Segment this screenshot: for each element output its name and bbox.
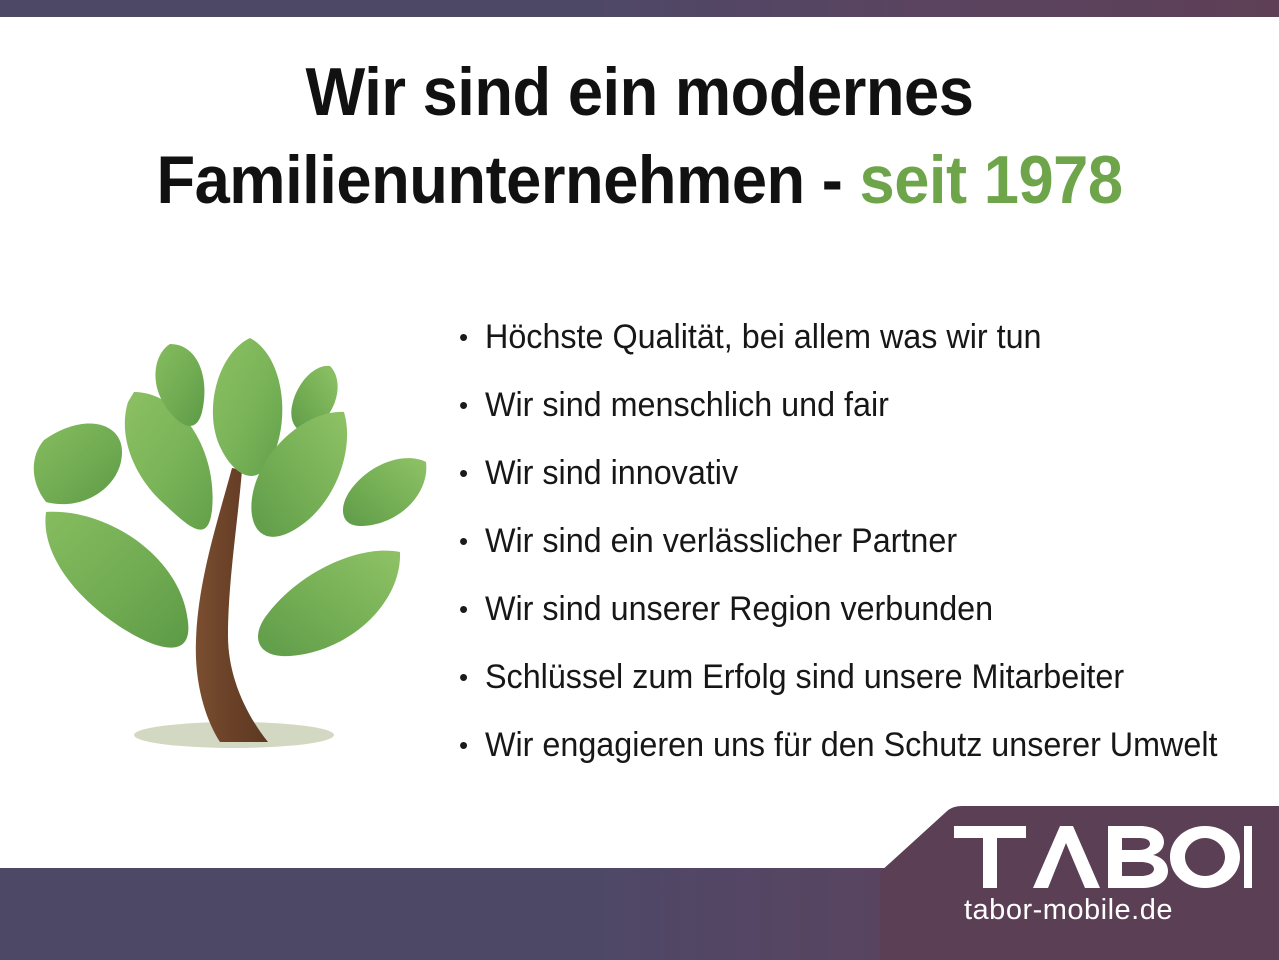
list-item: • Wir engagieren uns für den Schutz unse… bbox=[455, 711, 1265, 779]
list-item: • Wir sind unserer Region verbunden bbox=[455, 575, 1265, 643]
leaf-right-lower bbox=[258, 551, 400, 657]
top-brand-bar bbox=[0, 0, 1279, 17]
list-item-label: Wir sind unserer Region verbunden bbox=[485, 590, 993, 629]
tabor-wordmark-icon bbox=[952, 826, 1252, 888]
leaf-left-lower bbox=[45, 512, 188, 648]
title-accent-seit-1978: seit 1978 bbox=[860, 142, 1123, 218]
leaf-far-left-upper bbox=[34, 423, 122, 504]
list-item-label: Höchste Qualität, bei allem was wir tun bbox=[485, 318, 1042, 357]
list-item-label: Wir sind menschlich und fair bbox=[485, 386, 889, 425]
list-item-label: Wir engagieren uns für den Schutz unsere… bbox=[485, 726, 1217, 765]
list-item: • Höchste Qualität, bei allem was wir tu… bbox=[455, 303, 1265, 371]
title-line-1: Wir sind ein modernes bbox=[45, 48, 1234, 136]
tree-illustration bbox=[22, 330, 442, 770]
logo-panel[interactable]: tabor-mobile.de bbox=[880, 806, 1279, 960]
list-item: • Wir sind innovativ bbox=[455, 439, 1265, 507]
list-item: • Wir sind menschlich und fair bbox=[455, 371, 1265, 439]
logo-lockup: tabor-mobile.de bbox=[880, 806, 1279, 960]
list-item-label: Schlüssel zum Erfolg sind unsere Mitarbe… bbox=[485, 658, 1124, 697]
page-title: Wir sind ein modernes Familienunternehme… bbox=[45, 48, 1234, 224]
list-item-label: Wir sind ein verlässlicher Partner bbox=[485, 522, 957, 561]
leaf-far-right bbox=[343, 458, 426, 526]
slide-canvas: Wir sind ein modernes Familienunternehme… bbox=[0, 0, 1279, 960]
list-item: • Schlüssel zum Erfolg sind unsere Mitar… bbox=[455, 643, 1265, 711]
title-line-2: Familienunternehmen - seit 1978 bbox=[45, 136, 1234, 224]
title-line-2-main: Familienunternehmen - bbox=[156, 142, 859, 218]
logo-domain-label: tabor-mobile.de bbox=[880, 894, 1279, 927]
bullet-list: • Höchste Qualität, bei allem was wir tu… bbox=[455, 303, 1265, 779]
list-item: • Wir sind ein verlässlicher Partner bbox=[455, 507, 1265, 575]
list-item-label: Wir sind innovativ bbox=[485, 454, 738, 493]
